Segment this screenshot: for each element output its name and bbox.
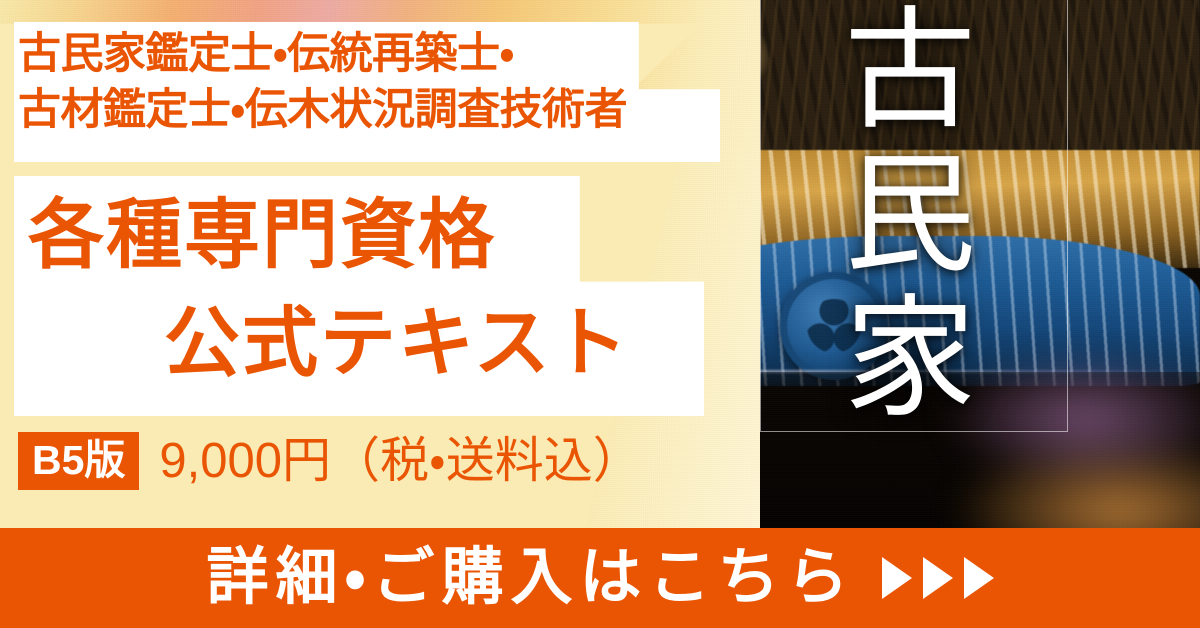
cta-arrow-group xyxy=(882,557,994,599)
book-cover-title: 古 民 家 xyxy=(780,6,1040,426)
chevron-right-icon xyxy=(964,557,994,599)
main-title-line-1: 各種専門資格 xyxy=(14,182,704,290)
headline-line-2: 古材鑑定士・伝木状況調査技術者 xyxy=(18,83,718,139)
cover-title-char-1: 古 xyxy=(844,6,976,138)
main-title-line-2: 公式テキスト xyxy=(14,290,704,398)
format-badge: B5版 xyxy=(18,432,139,490)
main-title: 各種専門資格 公式テキスト xyxy=(14,182,704,398)
price-row: B5版 9,000円（税・送料込） xyxy=(18,432,642,490)
headline-text: 古民家鑑定士・伝統再築士・ 古材鑑定士・伝木状況調査技術者 xyxy=(18,27,718,139)
chevron-right-icon xyxy=(882,557,912,599)
promo-banner: 古 民 家 伝統構法 古民家活用のための調査と再生の 古民家鑑定士・伝統再築士・… xyxy=(0,0,1200,628)
cover-title-char-3: 家 xyxy=(844,294,976,426)
chevron-right-icon xyxy=(923,557,953,599)
price-amount: 9,000円（税・送料込） xyxy=(159,437,641,486)
cta-bar[interactable]: 詳細・ご購入はこちら xyxy=(0,528,1200,628)
cover-title-char-2: 民 xyxy=(844,150,976,282)
headline-line-1: 古民家鑑定士・伝統再築士・ xyxy=(18,27,718,83)
cta-label[interactable]: 詳細・ご購入はこちら xyxy=(206,547,855,609)
